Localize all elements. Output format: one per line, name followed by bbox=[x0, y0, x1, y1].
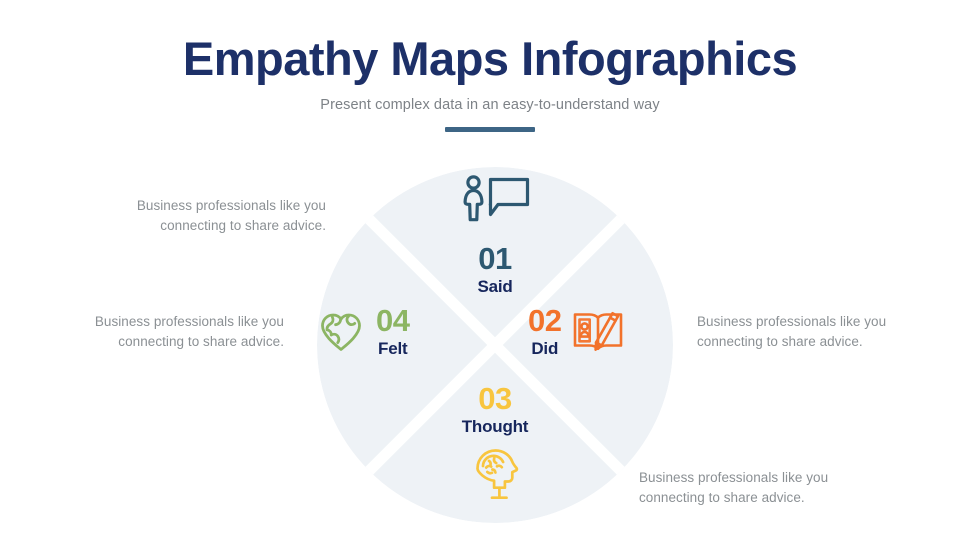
open-book-pencil-icon bbox=[571, 305, 625, 359]
caption-said-line1: Business professionals like you bbox=[56, 196, 326, 216]
header: Empathy Maps Infographics Present comple… bbox=[0, 34, 980, 132]
caption-felt: Business professionals like you connecti… bbox=[46, 312, 284, 351]
caption-did-line2: connecting to share advice. bbox=[697, 332, 947, 352]
title-divider-wrap bbox=[0, 127, 980, 132]
segment-said-number: 01 bbox=[430, 243, 560, 274]
segment-did-number: 02 bbox=[528, 305, 561, 336]
slide-canvas: Empathy Maps Infographics Present comple… bbox=[0, 0, 980, 551]
segment-felt-text: 04 Felt bbox=[376, 305, 409, 359]
segment-felt[interactable]: 04 Felt bbox=[318, 305, 468, 359]
caption-did: Business professionals like you connecti… bbox=[697, 312, 947, 351]
heart-puzzle-icon bbox=[318, 309, 364, 355]
page-title: Empathy Maps Infographics bbox=[0, 34, 980, 83]
caption-said-line2: connecting to share advice. bbox=[56, 216, 326, 236]
segment-did-text: 02 Did bbox=[528, 305, 561, 359]
segment-did[interactable]: 02 Did bbox=[528, 305, 676, 359]
segment-felt-label: Felt bbox=[376, 340, 409, 359]
caption-thought-line1: Business professionals like you bbox=[639, 468, 889, 488]
segment-said[interactable]: 01 Said bbox=[430, 173, 560, 297]
segment-thought-label: Thought bbox=[425, 418, 565, 437]
segment-felt-number: 04 bbox=[376, 305, 409, 336]
caption-thought: Business professionals like you connecti… bbox=[639, 468, 889, 507]
segment-thought-number: 03 bbox=[425, 383, 565, 414]
caption-did-line1: Business professionals like you bbox=[697, 312, 947, 332]
segment-did-label: Did bbox=[528, 340, 561, 359]
head-brain-icon bbox=[425, 445, 565, 501]
caption-felt-line1: Business professionals like you bbox=[46, 312, 284, 332]
person-speech-bubble-icon bbox=[430, 173, 560, 225]
caption-said: Business professionals like you connecti… bbox=[56, 196, 326, 235]
segment-thought[interactable]: 03 Thought bbox=[425, 383, 565, 501]
caption-felt-line2: connecting to share advice. bbox=[46, 332, 284, 352]
title-divider bbox=[445, 127, 535, 132]
page-subtitle: Present complex data in an easy-to-under… bbox=[0, 97, 980, 113]
segment-said-label: Said bbox=[430, 278, 560, 297]
caption-thought-line2: connecting to share advice. bbox=[639, 488, 889, 508]
